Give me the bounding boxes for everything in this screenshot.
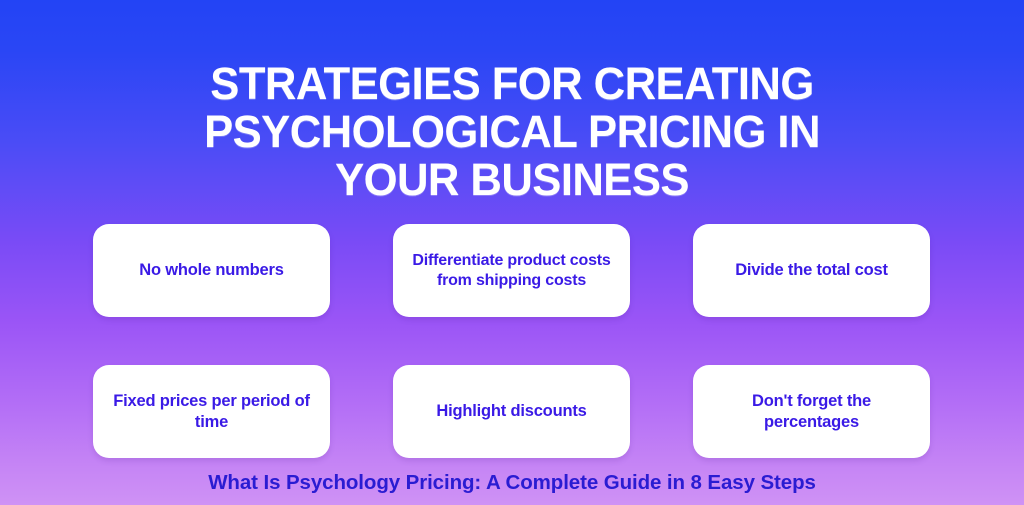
title-line-1: STRATEGIES FOR CREATING xyxy=(15,60,1008,108)
strategy-card-highlight-discounts[interactable]: Highlight discounts xyxy=(393,365,630,458)
strategy-card-label: Don't forget the percentages xyxy=(707,391,916,433)
strategy-card-differentiate-costs[interactable]: Differentiate product costs from shippin… xyxy=(393,224,630,317)
source-caption: What Is Psychology Pricing: A Complete G… xyxy=(0,470,1024,496)
title-line-2: PSYCHOLOGICAL PRICING IN xyxy=(15,108,1008,156)
page-title: STRATEGIES FOR CREATING PSYCHOLOGICAL PR… xyxy=(15,60,1008,204)
infographic-poster: STRATEGIES FOR CREATING PSYCHOLOGICAL PR… xyxy=(0,0,1024,505)
strategy-card-label: Differentiate product costs from shippin… xyxy=(407,251,616,291)
strategy-card-label: Fixed prices per period of time xyxy=(107,391,316,433)
strategy-card-divide-total-cost[interactable]: Divide the total cost xyxy=(693,224,930,317)
strategy-card-label: No whole numbers xyxy=(139,260,283,281)
strategy-card-fixed-prices[interactable]: Fixed prices per period of time xyxy=(93,365,330,458)
strategy-card-percentages[interactable]: Don't forget the percentages xyxy=(693,365,930,458)
strategy-card-label: Divide the total cost xyxy=(735,260,888,281)
strategy-card-label: Highlight discounts xyxy=(436,401,586,422)
strategy-card-no-whole-numbers[interactable]: No whole numbers xyxy=(93,224,330,317)
strategy-card-grid: No whole numbers Differentiate product c… xyxy=(93,224,930,458)
title-line-3: YOUR BUSINESS xyxy=(15,156,1008,204)
